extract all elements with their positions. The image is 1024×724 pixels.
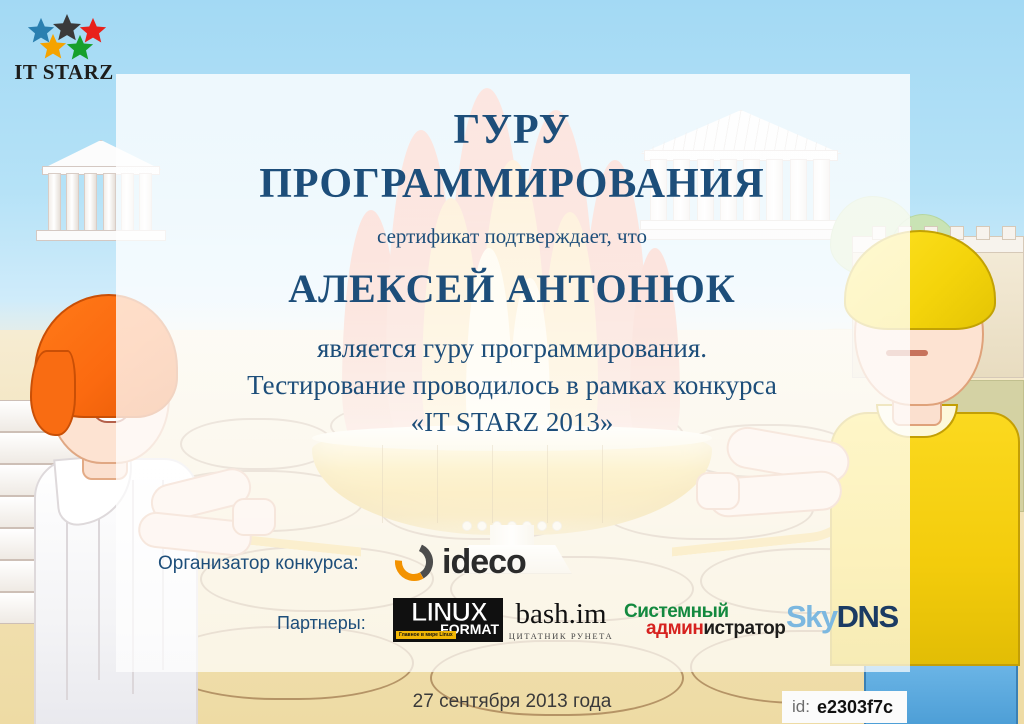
certificate-title-line2: ПРОГРАММИРОВАНИЯ bbox=[0, 160, 1024, 208]
linux-format-tagline: Главное в мире Linux bbox=[396, 631, 456, 639]
it-starz-logo[interactable]: IT STARZ bbox=[14, 12, 114, 92]
skydns-part2: DNS bbox=[837, 599, 898, 634]
certificate-body-line1: является гуру программирования. bbox=[0, 333, 1024, 364]
sysadmin-logo[interactable]: Системный администратор bbox=[624, 601, 782, 640]
partners-label: Партнеры: bbox=[277, 613, 366, 634]
certificate-canvas: IT STARZ ГУРУ ПРОГРАММИРОВАНИЯ сертифика… bbox=[0, 0, 1024, 724]
certificate-id-chip: id: e2303f7c bbox=[782, 691, 907, 723]
ideco-swoosh-icon bbox=[395, 543, 433, 581]
skydns-part1: Sky bbox=[786, 599, 837, 634]
organizer-label: Организатор конкурса: bbox=[158, 553, 359, 575]
skydns-logo[interactable]: SkyDNS bbox=[786, 599, 898, 635]
certificate-body-line2: Тестирование проводилось в рамках конкур… bbox=[0, 370, 1024, 401]
ideco-logo[interactable]: ideco bbox=[395, 541, 526, 583]
certificate-body-line3: «IT STARZ 2013» bbox=[0, 407, 1024, 438]
sysadmin-line2-red: админ bbox=[646, 618, 703, 639]
bash-im-wordmark: bash.im bbox=[505, 600, 617, 629]
certificate-id-label: id: bbox=[792, 697, 810, 717]
recipient-name: АЛЕКСЕЙ АНТОНЮК bbox=[0, 265, 1024, 312]
bash-im-logo[interactable]: bash.im ЦИТАТНИК РУНЕТА bbox=[505, 600, 617, 641]
sysadmin-line2-dark: истратор bbox=[703, 618, 785, 639]
certificate-id-value: e2303f7c bbox=[817, 697, 893, 718]
bash-im-subtitle: ЦИТАТНИК РУНЕТА bbox=[505, 631, 617, 641]
ideco-wordmark: ideco bbox=[442, 543, 526, 582]
it-starz-wordmark: IT STARZ bbox=[14, 60, 114, 85]
sysadmin-line2: администратор bbox=[646, 618, 782, 640]
certificate-confirm-text: сертификат подтверждает, что bbox=[0, 224, 1024, 249]
certificate-title-line1: ГУРУ bbox=[0, 106, 1024, 154]
linux-format-logo[interactable]: LINUX FORMAT Главное в мире Linux bbox=[393, 598, 503, 642]
